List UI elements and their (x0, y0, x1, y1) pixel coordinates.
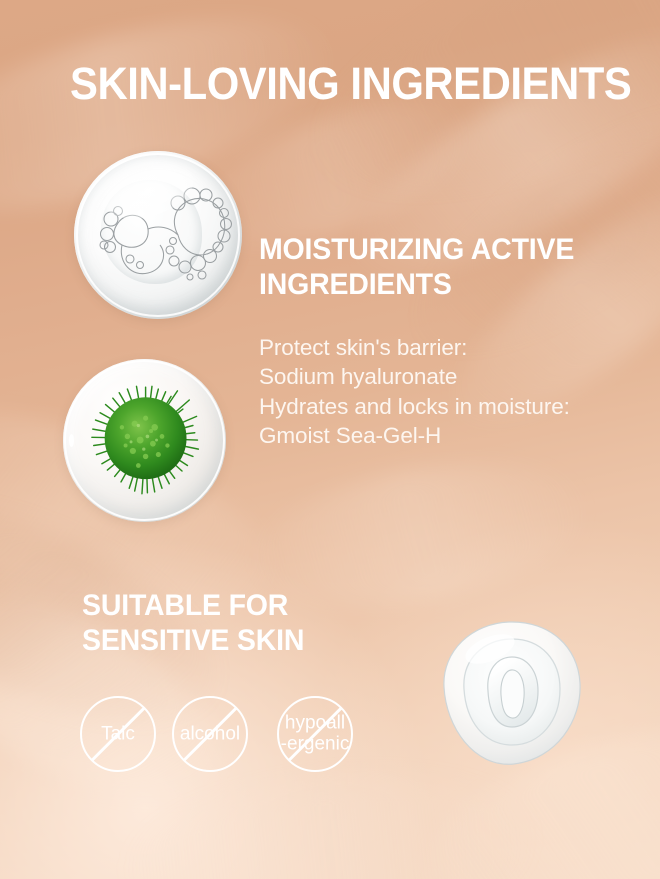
bubble-rim (64, 360, 225, 521)
gel-droplet-icon (74, 151, 242, 319)
badge-alcohol: alcohol (172, 696, 248, 772)
gel-rim (76, 153, 240, 317)
badge-hypoallergenic: hypoall -ergenic (277, 696, 353, 772)
sensitive-heading-line1: SUITABLE FOR (82, 588, 396, 623)
moisturizing-heading: MOISTURIZING ACTIVE INGREDIENTS (259, 232, 601, 302)
badge-label: alcohol (180, 725, 240, 744)
clear-gel-blob-icon (428, 617, 586, 769)
moisturizing-heading-line1: MOISTURIZING ACTIVE (259, 232, 601, 267)
page-title: SKIN-LOVING INGREDIENTS (70, 61, 591, 106)
gel-blob-core-slit (501, 670, 524, 718)
green-algae-bubble-icon (63, 359, 226, 522)
badge-talc: Talc (80, 696, 156, 772)
body-line: Hydrates and locks in moisture: (259, 392, 629, 421)
badge-label: hypoall -ergenic (281, 713, 350, 754)
moisturizing-heading-line2: INGREDIENTS (259, 267, 601, 302)
ripple-band (0, 530, 253, 841)
ripple-band (113, 758, 546, 879)
ripple-band (285, 0, 660, 241)
moisturizing-body-copy: Protect skin's barrier: Sodium hyalurona… (259, 333, 629, 450)
body-line: Gmoist Sea-Gel-H (259, 421, 629, 450)
sensitive-skin-heading: SUITABLE FOR SENSITIVE SKIN (82, 588, 396, 658)
product-feature-poster: SKIN-LOVING INGREDIENTS (0, 0, 660, 879)
body-line: Sodium hyaluronate (259, 362, 629, 391)
badge-label-line1: hypoall (281, 713, 350, 734)
body-line: Protect skin's barrier: (259, 333, 629, 362)
badge-label-line2: -ergenic (281, 734, 350, 755)
sensitive-heading-line2: SENSITIVE SKIN (82, 623, 396, 658)
badge-label: Talc (101, 725, 135, 744)
